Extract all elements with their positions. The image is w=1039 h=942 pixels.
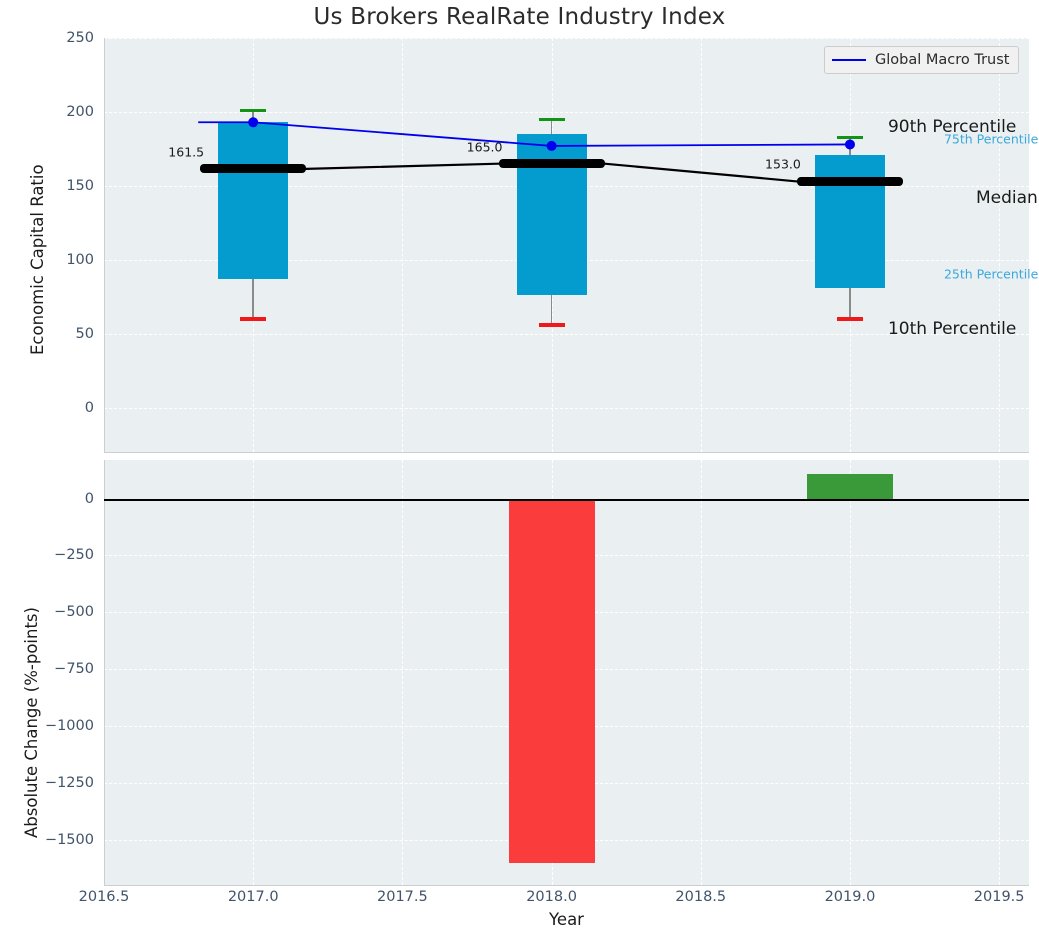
y-tick-label-bottom: −1000 <box>0 718 94 734</box>
trend-point-marker <box>547 141 557 151</box>
legend-label-global-macro-trust: Global Macro Trust <box>875 52 1009 68</box>
y-tick-label-bottom: −1250 <box>0 775 94 791</box>
y-tick-label-bottom: 0 <box>0 491 94 507</box>
y-axis-label-top: Economic Capital Ratio <box>28 164 47 355</box>
y-tick-label-top: 150 <box>0 178 94 194</box>
trend-point-marker <box>845 139 855 149</box>
y-tick-label-top: 100 <box>0 252 94 268</box>
legend[interactable]: Global Macro Trust <box>824 46 1019 74</box>
y-tick-label-bottom: −500 <box>0 604 94 620</box>
x-tick-label: 2017.0 <box>228 889 279 905</box>
y-tick-label-bottom: −250 <box>0 547 94 563</box>
panel-spine-bottom <box>104 885 1029 886</box>
trend-point-marker <box>248 117 258 127</box>
zero-reference-line <box>104 499 1029 501</box>
x-axis-label: Year <box>104 910 1029 929</box>
y-tick-label-top: 250 <box>0 30 94 46</box>
trend-line-global-macro-trust <box>104 38 1029 452</box>
panel-spine-left <box>104 460 105 885</box>
legend-line-swatch <box>832 59 866 61</box>
x-tick-label: 2018.5 <box>675 889 726 905</box>
panel-spine-bottom <box>104 452 1029 453</box>
delta-bar-2018-0 <box>509 499 595 863</box>
y-axis-label-bottom: Absolute Change (%-points) <box>22 607 41 838</box>
y-tick-label-bottom: −750 <box>0 661 94 677</box>
y-tick-label-top: 50 <box>0 326 94 342</box>
x-tick-label: 2018.0 <box>526 889 577 905</box>
chart-title: Us Brokers RealRate Industry Index <box>0 4 1039 30</box>
y-tick-label-top: 0 <box>0 400 94 416</box>
y-tick-label-bottom: −1500 <box>0 832 94 848</box>
delta-bar-2019-0 <box>807 474 893 499</box>
x-tick-label: 2016.5 <box>79 889 130 905</box>
x-tick-label: 2019.0 <box>825 889 876 905</box>
x-tick-label: 2017.5 <box>377 889 428 905</box>
y-tick-label-top: 200 <box>0 104 94 120</box>
chart-figure: Us Brokers RealRate Industry Index 05010… <box>0 0 1039 942</box>
x-tick-label: 2019.5 <box>974 889 1025 905</box>
